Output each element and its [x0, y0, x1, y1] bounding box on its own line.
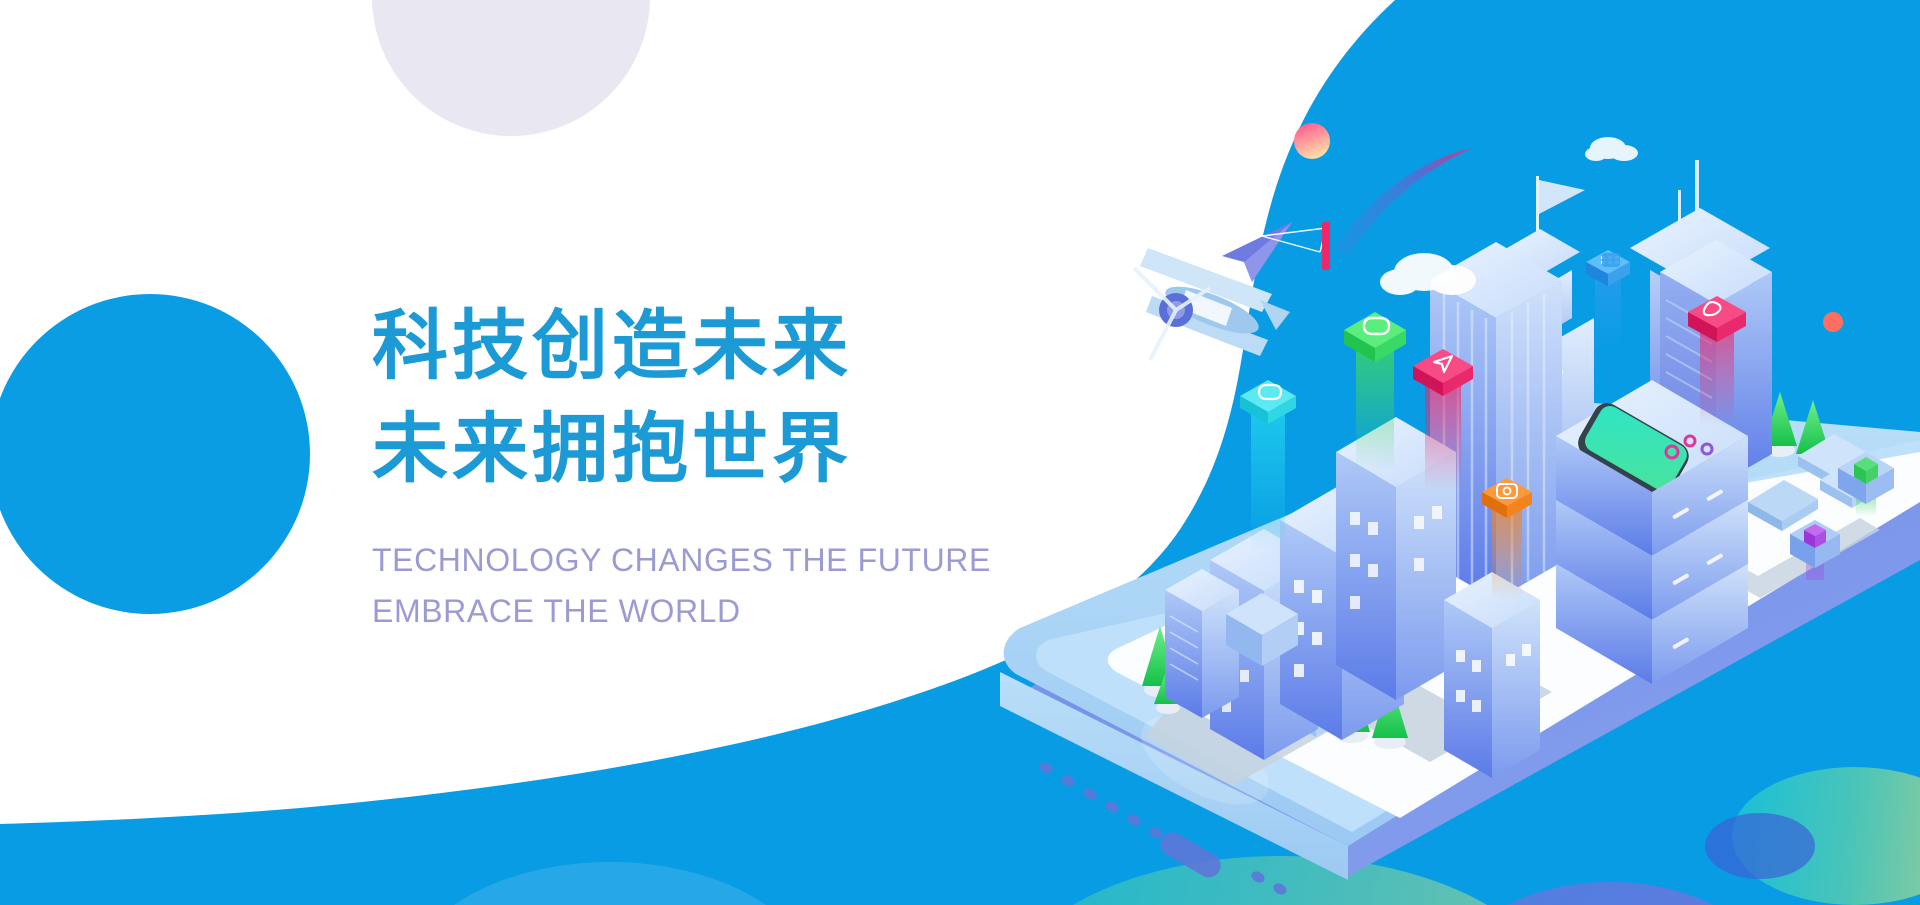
biplane	[1134, 248, 1290, 360]
marker-blue-small	[1602, 253, 1620, 267]
headline-line-2: 未来拥抱世界	[372, 399, 1072, 502]
hero-copy: 科技创造未来 未来拥抱世界 TECHNOLOGY CHANGES THE FUT…	[372, 296, 1072, 636]
hero-banner: 科技创造未来 未来拥抱世界 TECHNOLOGY CHANGES THE FUT…	[0, 0, 1920, 905]
phone-charging-port	[1156, 828, 1225, 882]
building-rooftop-pool	[1556, 380, 1748, 684]
building-front-orange	[1444, 572, 1540, 778]
sphere-pink	[1294, 123, 1330, 159]
sphere-coral	[1823, 312, 1843, 332]
subhead-line-1: TECHNOLOGY CHANGES THE FUTURE	[372, 535, 1072, 586]
comet-trail	[1332, 148, 1472, 256]
headline-line-1: 科技创造未来	[372, 296, 1072, 399]
paper-plane	[1222, 222, 1330, 282]
subhead-line-2: EMBRACE THE WORLD	[372, 586, 1072, 637]
